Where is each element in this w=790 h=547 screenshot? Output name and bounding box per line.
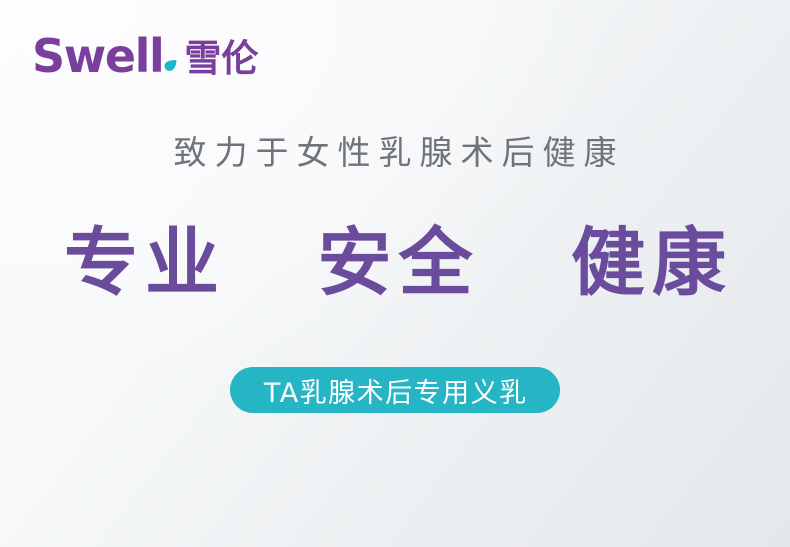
brand-wordmark: Swell — [32, 33, 163, 79]
banner-subtitle: 致力于女性乳腺术后健康 — [0, 132, 790, 173]
product-category-badge: TA乳腺术后专用义乳 — [230, 367, 559, 413]
banner-headline: 专业 安全 健康 — [0, 222, 790, 305]
promo-banner: Swell 雪伦 致力于女性乳腺术后健康 专业 安全 健康 TA乳腺术后专用义乳 — [0, 0, 790, 547]
badge-container: TA乳腺术后专用义乳 — [0, 367, 790, 413]
brand-logo: Swell 雪伦 — [32, 33, 258, 79]
headline-word-2: 安全 — [318, 220, 480, 306]
headline-word-1: 专业 — [64, 220, 226, 306]
brand-chinese-name: 雪伦 — [184, 40, 258, 77]
teal-leaf-dot-icon — [164, 59, 177, 72]
headline-word-3: 健康 — [571, 220, 733, 306]
